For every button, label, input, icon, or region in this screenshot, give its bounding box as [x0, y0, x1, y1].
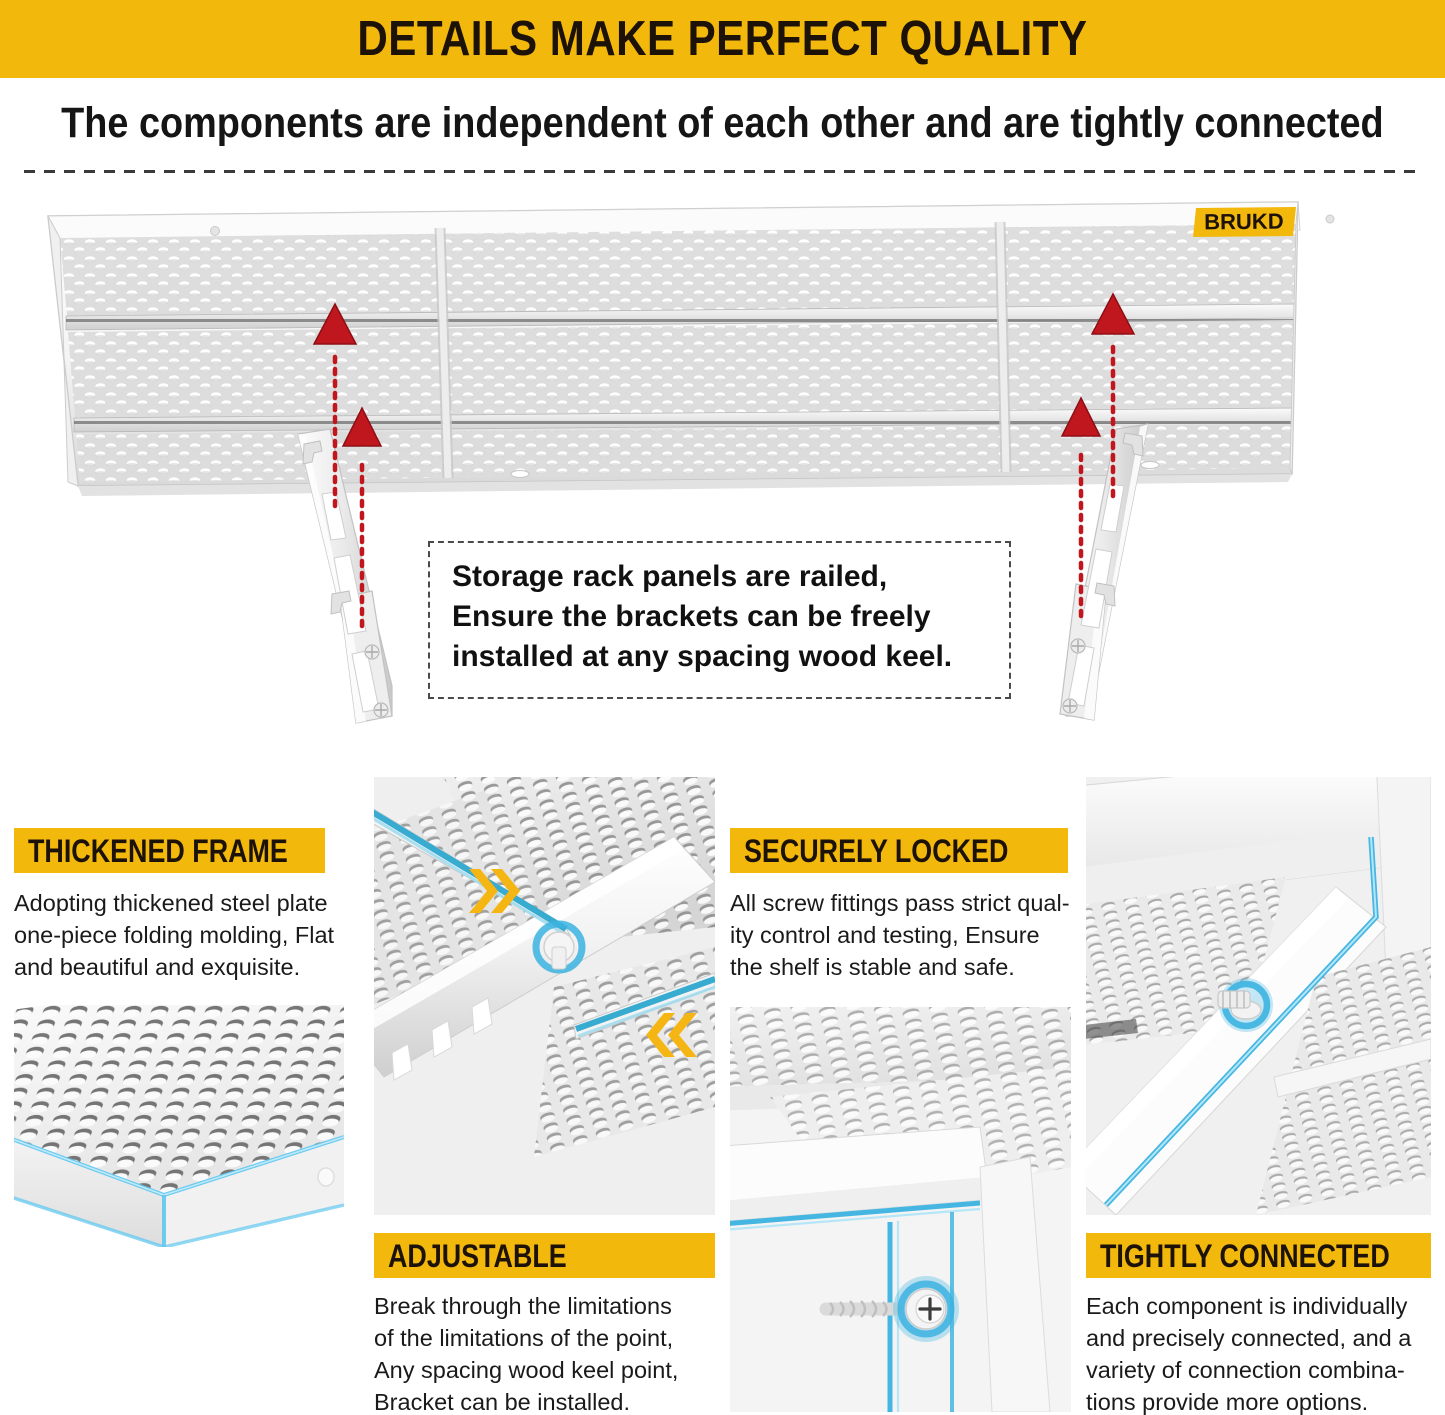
body-line: and precisely connected, and a: [1086, 1325, 1411, 1351]
feature-body-tightly-connected: Each component is individuallyand precis…: [1086, 1290, 1431, 1415]
body-line: All screw fittings pass strict qual-: [730, 890, 1070, 916]
screw-fitting-closeup-photo: [730, 1007, 1071, 1412]
feature-label-text: THICKENED FRAME: [28, 835, 288, 867]
rail-bracket-slide-photo: [374, 777, 715, 1215]
brand-logo-text: BRUKD: [1204, 209, 1284, 235]
feature-label-text: ADJUSTABLE: [388, 1240, 567, 1272]
body-line: Break through the limitations: [374, 1293, 672, 1319]
brand-logo: BRUKD: [1193, 207, 1296, 237]
body-line: Bracket can be installed.: [374, 1389, 630, 1415]
feature-label-text: TIGHTLY CONNECTED: [1100, 1240, 1390, 1272]
body-line: ity control and testing, Ensure: [730, 922, 1040, 948]
body-line: of the limitations of the point,: [374, 1325, 673, 1351]
feature-label-text: SECURELY LOCKED: [744, 835, 1008, 867]
feature-column-adjustable: ADJUSTABLE Break through the limitations…: [374, 760, 719, 1415]
feature-column-securely-locked: SECURELY LOCKED All screw fittings pass …: [730, 760, 1075, 1415]
feature-body-adjustable: Break through the limitationsof the limi…: [374, 1290, 715, 1415]
feature-body-thickened-frame: Adopting thickened steel plateone-piece …: [14, 887, 354, 983]
body-line: the shelf is stable and safe.: [730, 954, 1015, 980]
feature-body-securely-locked: All screw fittings pass strict qual-ity …: [730, 887, 1071, 983]
subtitle-row: The components are independent of each o…: [0, 92, 1445, 154]
page-subtitle: The components are independent of each o…: [61, 102, 1384, 145]
body-line: and beautiful and exquisite.: [14, 954, 300, 980]
feature-column-tightly-connected: TIGHTLY CONNECTED Each component is indi…: [1086, 760, 1431, 1415]
body-line: one-piece folding molding, Flat: [14, 922, 334, 948]
perforated-plate-corner-photo: [14, 1005, 344, 1247]
callout-line-1: Storage rack panels are railed,: [452, 557, 987, 597]
body-line: Any spacing wood keel point,: [374, 1357, 678, 1383]
callout-line-3: installed at any spacing wood keel.: [452, 637, 987, 677]
callout-box: Storage rack panels are railed, Ensure t…: [428, 541, 1011, 699]
header-banner: DETAILS MAKE PERFECT QUALITY: [0, 0, 1445, 78]
frame-joint-bolt-photo: [1086, 777, 1431, 1215]
feature-label-thickened-frame: THICKENED FRAME: [14, 828, 325, 873]
dashed-divider: [24, 170, 1424, 173]
callout-line-2: Ensure the brackets can be freely: [452, 597, 987, 637]
feature-column-thickened-frame: THICKENED FRAME Adopting thickened steel…: [14, 760, 359, 1415]
feature-label-tightly-connected: TIGHTLY CONNECTED: [1086, 1233, 1431, 1278]
body-line: Adopting thickened steel plate: [14, 890, 328, 916]
screw-thread: [826, 1301, 896, 1317]
page-title: DETAILS MAKE PERFECT QUALITY: [357, 15, 1087, 64]
feature-label-adjustable: ADJUSTABLE: [374, 1233, 715, 1278]
feature-label-securely-locked: SECURELY LOCKED: [730, 828, 1068, 873]
infographic-page: DETAILS MAKE PERFECT QUALITY The compone…: [0, 0, 1445, 1415]
body-line: tions provide more options.: [1086, 1389, 1368, 1415]
body-line: Each component is individually: [1086, 1293, 1407, 1319]
screw-head: [893, 1276, 959, 1342]
body-line: variety of connection combina-: [1086, 1357, 1405, 1383]
